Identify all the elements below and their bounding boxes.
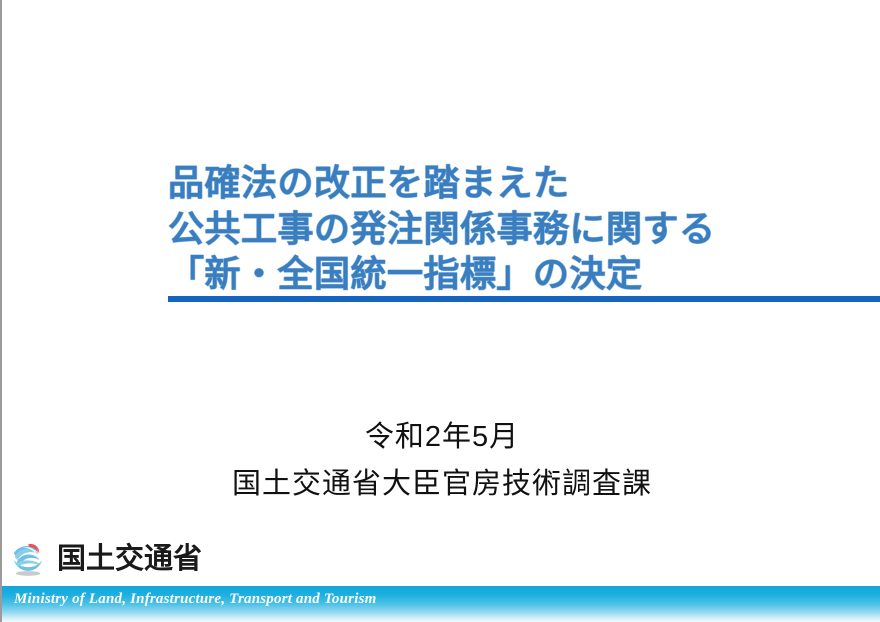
subtitle-date: 令和2年5月 <box>2 414 880 461</box>
mlit-logo: 国土交通省 <box>10 540 202 578</box>
subtitle-organization: 国土交通省大臣官房技術調査課 <box>2 461 880 508</box>
title-line-1: 品確法の改正を踏まえた <box>168 160 880 206</box>
title-underline-rule <box>168 296 880 302</box>
title-line-2: 公共工事の発注関係事務に関する <box>168 206 880 252</box>
mlit-wave-emblem-icon <box>10 540 48 578</box>
presentation-slide: 品確法の改正を踏まえた 公共工事の発注関係事務に関する 「新・全国統一指標」の決… <box>0 0 880 622</box>
slide-subtitle: 令和2年5月 国土交通省大臣官房技術調査課 <box>2 414 880 508</box>
slide-footer: 国土交通省 Ministry of Land, Infrastructure, … <box>2 535 880 622</box>
mlit-logo-text-en: Ministry of Land, Infrastructure, Transp… <box>14 591 376 608</box>
slide-title: 品確法の改正を踏まえた 公共工事の発注関係事務に関する 「新・全国統一指標」の決… <box>168 160 880 297</box>
title-line-3: 「新・全国統一指標」の決定 <box>168 251 880 297</box>
mlit-logo-text-jp: 国土交通省 <box>57 545 202 574</box>
